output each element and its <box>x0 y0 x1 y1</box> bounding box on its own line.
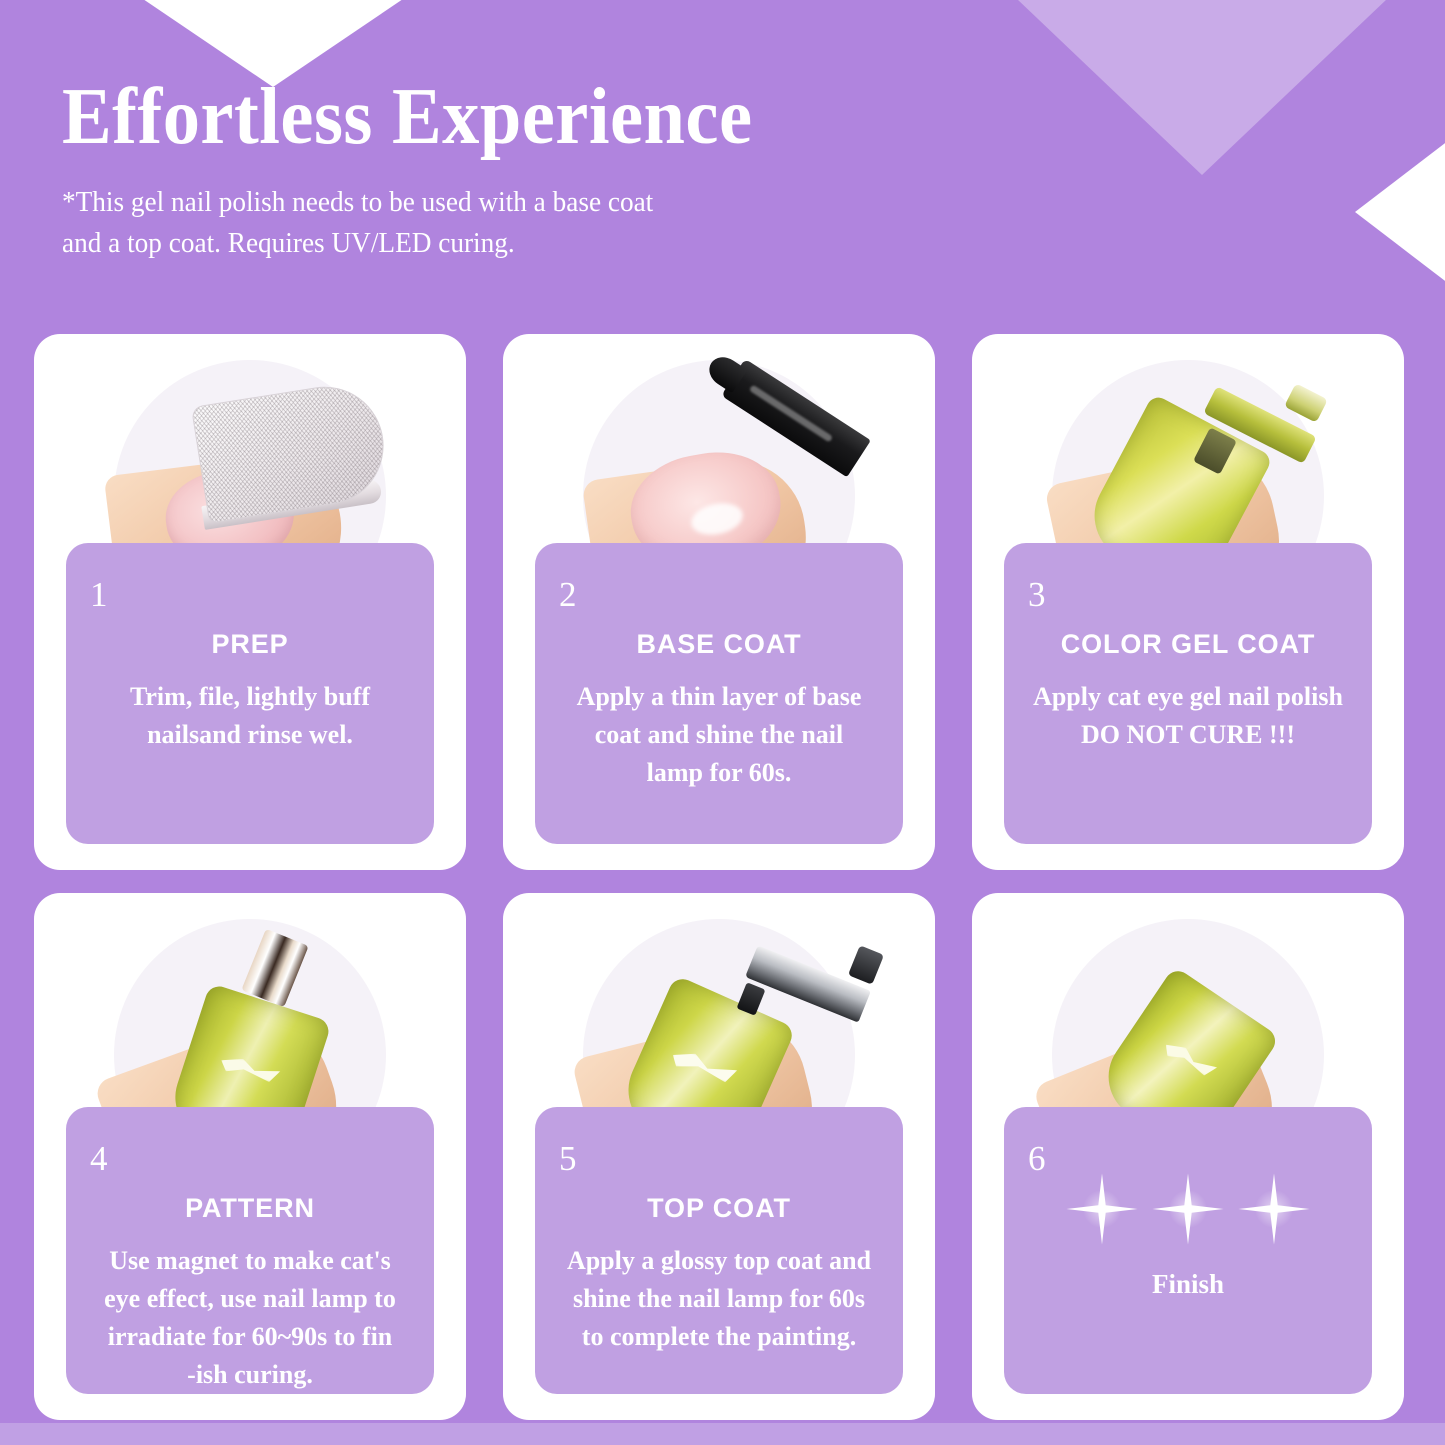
step-number-4: 4 <box>90 1141 108 1176</box>
step-title-3: COLOR GEL COAT <box>1004 629 1372 660</box>
step-card-3: 3 COLOR GEL COAT Apply cat eye gel nail … <box>972 334 1404 870</box>
step-panel-4: 4 PATTERN Use magnet to make cat's eye e… <box>66 1107 434 1394</box>
steps-grid: 1 PREP Trim, file, lightly buff nailsand… <box>34 334 1412 1420</box>
step-number-6: 6 <box>1028 1141 1046 1176</box>
step-description-3: Apply cat eye gel nail polish DO NOT CUR… <box>1018 678 1358 754</box>
step-title-2: BASE COAT <box>535 629 903 660</box>
page-subtitle: *This gel nail polish needs to be used w… <box>62 182 1362 264</box>
step-card-5: 5 TOP COAT Apply a glossy top coat and s… <box>503 893 935 1420</box>
step-panel-2: 2 BASE COAT Apply a thin layer of base c… <box>535 543 903 844</box>
brush-cap-5 <box>848 945 884 984</box>
step-title-5: TOP COAT <box>535 1193 903 1224</box>
step-number-2: 2 <box>559 577 577 612</box>
step-number-3: 3 <box>1028 577 1046 612</box>
page-title: Effortless Experience <box>62 78 1334 156</box>
sparkle-row <box>1004 1173 1372 1245</box>
brush-cap-3 <box>1284 383 1328 423</box>
topcoat-brush-icon-5 <box>745 945 871 1022</box>
step-description-1: Trim, file, lightly buff nailsand rinse … <box>80 678 420 754</box>
sparkle-icon <box>1151 1172 1225 1246</box>
step-description-5: Apply a glossy top coat and shine the na… <box>549 1242 889 1356</box>
sparkle-icon <box>1237 1172 1311 1246</box>
page-header: Effortless Experience *This gel nail pol… <box>0 0 1445 264</box>
step-description-2: Apply a thin layer of base coat and shin… <box>549 678 889 792</box>
step-description-4: Use magnet to make cat's eye effect, use… <box>80 1242 420 1394</box>
step-card-1: 1 PREP Trim, file, lightly buff nailsand… <box>34 334 466 870</box>
step-number-5: 5 <box>559 1141 577 1176</box>
step-title-4: PATTERN <box>66 1193 434 1224</box>
step-card-4: 4 PATTERN Use magnet to make cat's eye e… <box>34 893 466 1420</box>
step-panel-5: 5 TOP COAT Apply a glossy top coat and s… <box>535 1107 903 1394</box>
sparkle-icon <box>1065 1172 1139 1246</box>
step-card-6: 6 Finish <box>972 893 1404 1420</box>
step-panel-3: 3 COLOR GEL COAT Apply cat eye gel nail … <box>1004 543 1372 844</box>
step-panel-6: 6 Finish <box>1004 1107 1372 1394</box>
step-card-2: 2 BASE COAT Apply a thin layer of base c… <box>503 334 935 870</box>
step-number-1: 1 <box>90 577 108 612</box>
step-title-1: PREP <box>66 629 434 660</box>
bottom-band <box>0 1423 1445 1445</box>
step-description-6: Finish <box>1018 1265 1358 1304</box>
step-panel-1: 1 PREP Trim, file, lightly buff nailsand… <box>66 543 434 844</box>
